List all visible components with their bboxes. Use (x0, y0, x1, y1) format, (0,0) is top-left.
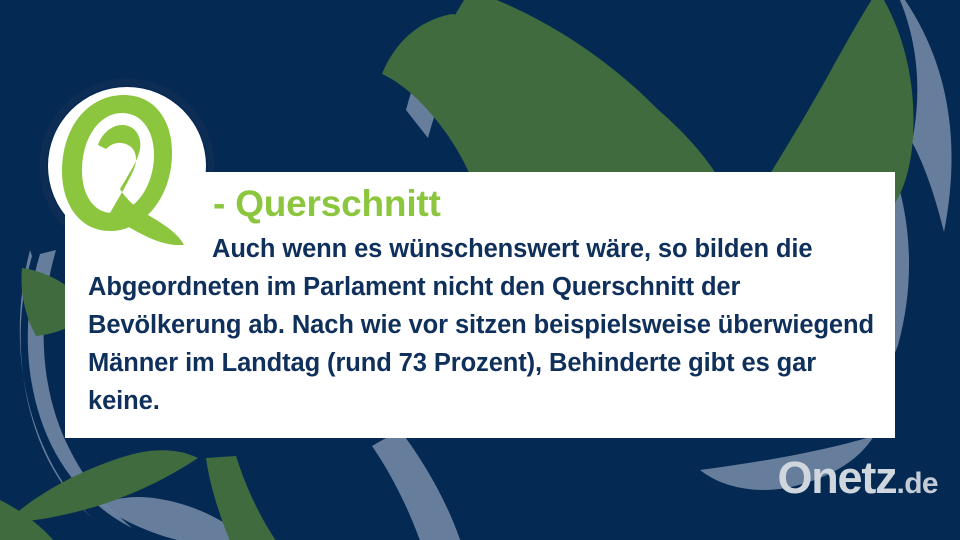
image-canvas: - Querschnitt Auch wenn es wünschenswert… (0, 0, 960, 540)
q-logo-svg (48, 87, 206, 245)
article-body: Auch wenn es wünschenswert wäre, so bild… (88, 230, 878, 420)
page-title: - Querschnitt (213, 182, 441, 226)
brand-tld: .de (896, 467, 938, 500)
q-logo (48, 87, 206, 245)
onetz-logo: Onetz.de (777, 455, 938, 506)
brand-name: Onetz (777, 452, 896, 503)
